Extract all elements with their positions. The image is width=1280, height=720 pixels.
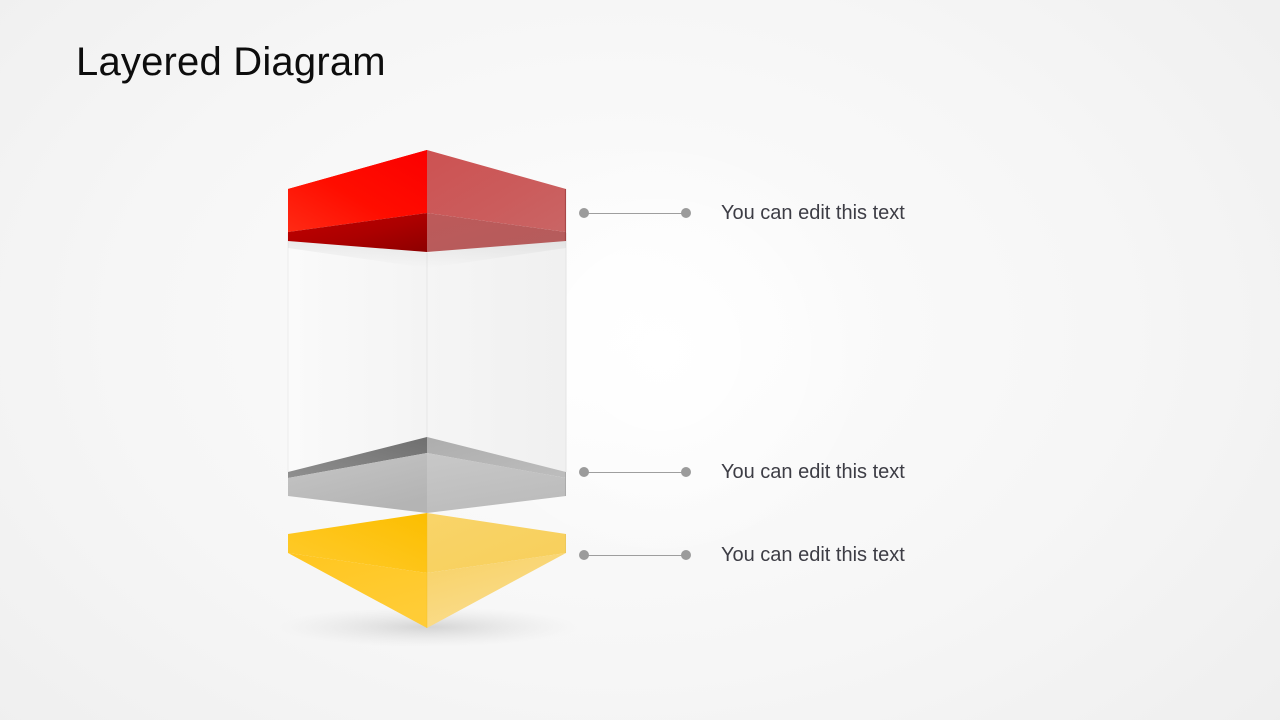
callout-red[interactable]: You can edit this text — [579, 198, 905, 228]
callout-connector — [579, 466, 691, 478]
connector-line — [584, 213, 686, 214]
connector-line — [584, 472, 686, 473]
connector-dot-start — [579, 550, 589, 560]
connector-dot-end — [681, 467, 691, 477]
layer-red[interactable] — [288, 150, 566, 268]
connector-dot-end — [681, 550, 691, 560]
callout-connector — [579, 549, 691, 561]
layer-yellow[interactable] — [288, 513, 566, 628]
connector-dot-end — [681, 208, 691, 218]
callout-label[interactable]: You can edit this text — [721, 544, 905, 567]
callout-label[interactable]: You can edit this text — [721, 461, 905, 484]
callout-label[interactable]: You can edit this text — [721, 202, 905, 225]
callout-connector — [579, 207, 691, 219]
connector-dot-start — [579, 208, 589, 218]
connector-line — [584, 555, 686, 556]
connector-dot-start — [579, 467, 589, 477]
layered-diagram — [0, 0, 1280, 720]
slide-canvas: Layered Diagram — [0, 0, 1280, 720]
layered-diagram-svg — [0, 0, 1280, 720]
callout-yellow[interactable]: You can edit this text — [579, 540, 905, 570]
callout-gray[interactable]: You can edit this text — [579, 457, 905, 487]
